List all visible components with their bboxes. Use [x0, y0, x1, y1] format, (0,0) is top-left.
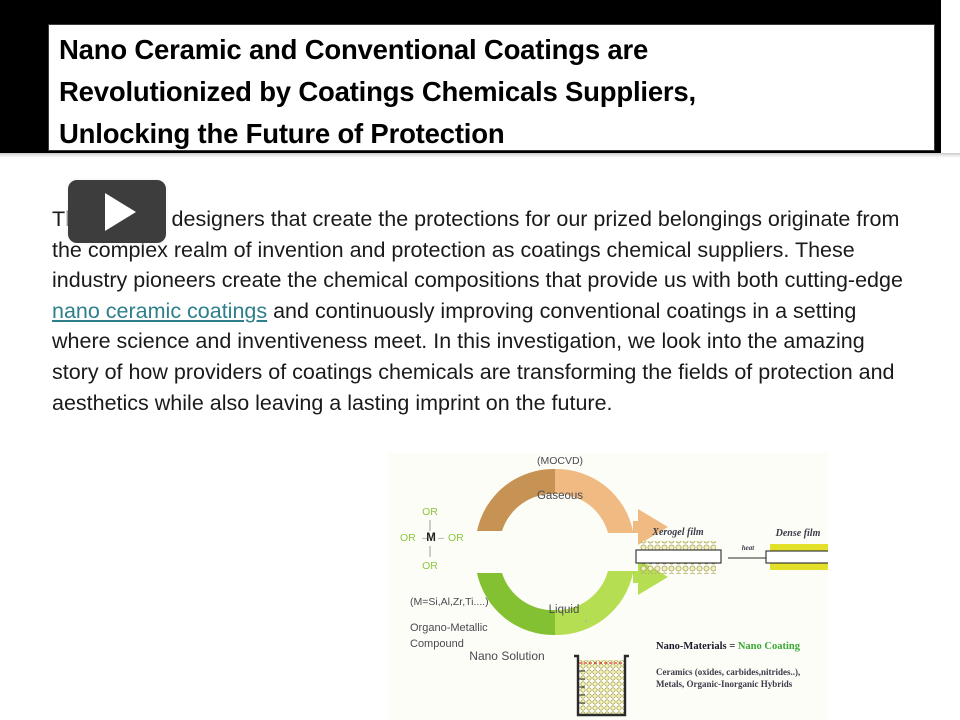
formula-metal-symbol: M: [426, 532, 436, 544]
metal-list-label: (M=Si,Al,Zr,Ti....): [410, 596, 489, 608]
compound-label-line2: Compound: [410, 638, 464, 650]
nano-ceramic-coatings-link[interactable]: nano ceramic coatings: [52, 299, 267, 323]
title-banner: Nano Ceramic and Conventional Coatings a…: [0, 0, 941, 153]
beaker-graphic: [574, 656, 629, 715]
xerogel-film-graphic: [636, 541, 721, 574]
mocvd-label: (MOCVD): [537, 455, 583, 467]
dense-film-graphic: [766, 544, 828, 570]
footnote-line-1: Ceramics (oxides, carbides,nitrides..),: [656, 667, 800, 677]
nano-materials-result: Nano-Materials = Nano Coating: [656, 641, 801, 652]
formula-or-top: OR: [422, 506, 438, 518]
gaseous-label: Gaseous: [537, 490, 583, 502]
liquid-dot-marker: [585, 620, 587, 622]
dense-film-label: Dense film: [775, 528, 821, 539]
result-highlight: Nano Coating: [738, 641, 801, 652]
xerogel-film-label: Xerogel film: [651, 527, 704, 538]
banner-divider: [0, 153, 960, 158]
formula-or-bottom: OR: [422, 560, 438, 572]
play-button[interactable]: [68, 180, 166, 243]
play-triangle-icon: [105, 193, 136, 231]
body-paragraph: The unseen designers that create the pro…: [52, 204, 908, 418]
nano-solution-label: Nano Solution: [469, 649, 544, 663]
body-text-part-1: The unseen designers that create the pro…: [52, 207, 903, 292]
compound-label-line1: Organo-Metallic: [410, 622, 488, 634]
footnote-line-2: Metals, Organic-Inorganic Hybrids: [656, 679, 793, 689]
nano-coating-process-diagram: (MOCVD) Gaseous Liquid OR OR – M – OR OR…: [388, 453, 828, 720]
formula-dash-right: –: [438, 532, 444, 544]
formula-or-left: OR: [400, 532, 416, 544]
heat-label: heat: [742, 544, 756, 552]
formula-or-right: OR: [448, 532, 464, 544]
liquid-label: Liquid: [549, 604, 580, 616]
result-prefix: Nano-Materials =: [656, 641, 738, 652]
page-title: Nano Ceramic and Conventional Coatings a…: [59, 29, 919, 151]
title-box: Nano Ceramic and Conventional Coatings a…: [48, 24, 935, 151]
